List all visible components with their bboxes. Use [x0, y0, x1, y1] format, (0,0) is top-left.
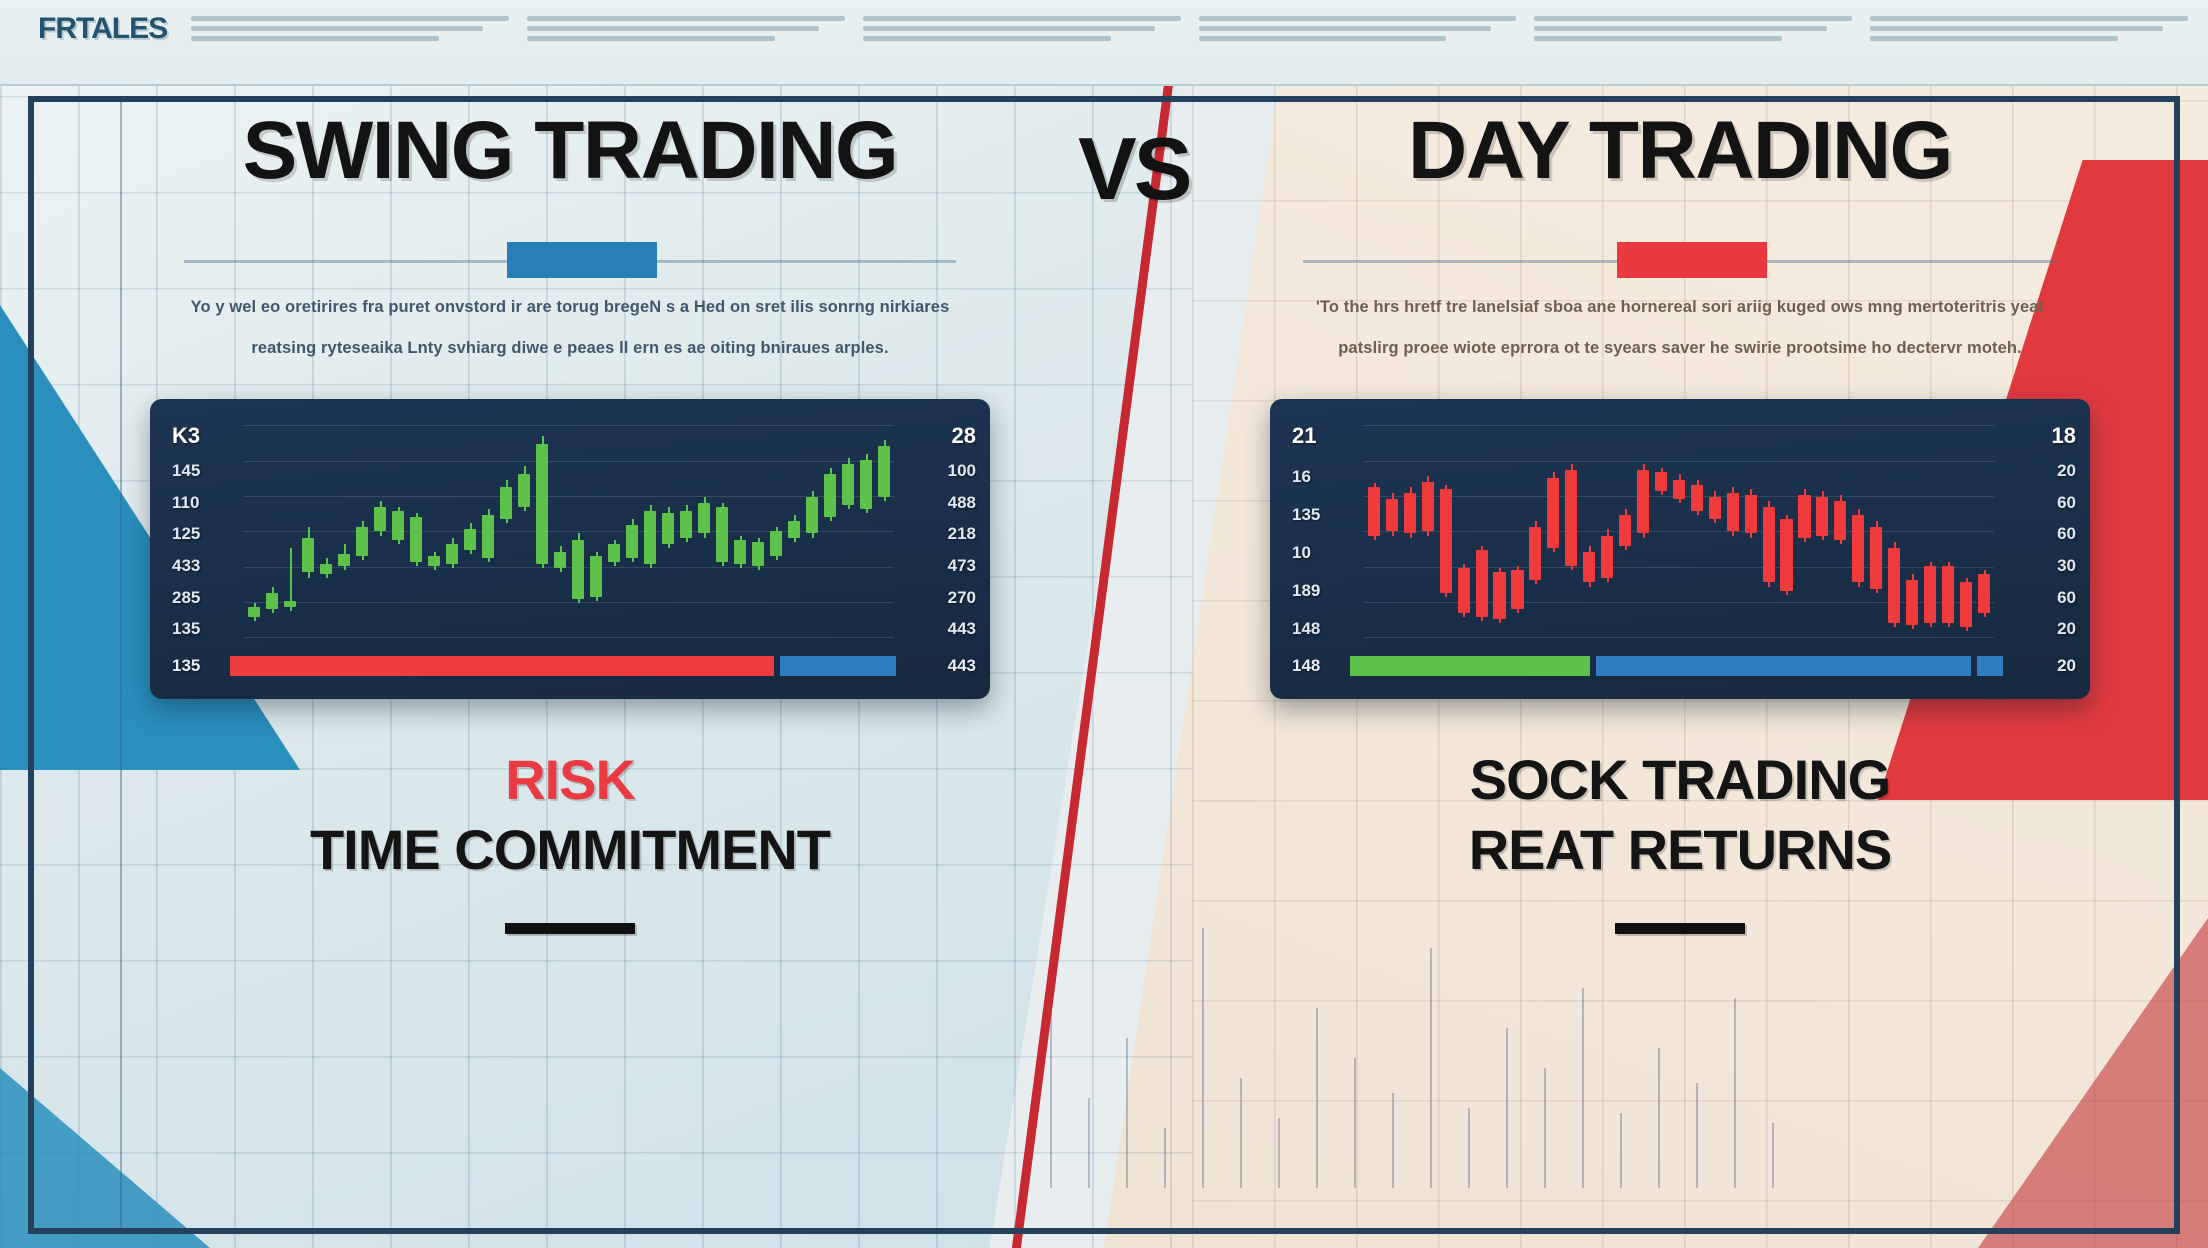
candlestick[interactable]	[1743, 429, 1759, 633]
candlestick[interactable]	[1581, 429, 1597, 633]
risk-label: RISK	[150, 745, 990, 815]
time-commitment-label: TIME COMMITMENT	[150, 815, 990, 885]
candlestick[interactable]	[588, 429, 604, 633]
candlestick[interactable]	[552, 429, 568, 633]
candlestick[interactable]	[1617, 429, 1633, 633]
candlestick[interactable]	[1671, 429, 1687, 633]
axis-tick-label: 21	[1292, 425, 1316, 447]
axis-tick-label: 20	[2057, 620, 2076, 637]
right-footer-dash	[1615, 923, 1745, 934]
candle-body	[572, 540, 584, 599]
candlestick[interactable]	[822, 429, 838, 633]
volume-bar-left-label: 135	[172, 656, 218, 676]
axis-tick-label: 135	[172, 620, 200, 637]
candlestick[interactable]	[1689, 429, 1705, 633]
masthead: FRTALES	[0, 0, 2208, 86]
axis-tick-label: 100	[948, 462, 976, 479]
tick-mark	[1050, 978, 1052, 1188]
left-footer-dash	[505, 923, 635, 934]
candle-body	[1763, 507, 1775, 582]
masthead-column	[1534, 16, 1852, 41]
candle-body	[1529, 527, 1541, 580]
candle-body	[1440, 489, 1452, 593]
candle-body	[464, 529, 476, 549]
candle-body	[1709, 497, 1721, 519]
candlestick[interactable]	[516, 429, 532, 633]
left-rule-group	[150, 240, 990, 280]
candle-body	[536, 444, 548, 564]
candlestick[interactable]	[1868, 429, 1884, 633]
volume-bar-segment	[230, 656, 774, 676]
right-chart-y-axis-left: 211613510189148	[1292, 425, 1364, 637]
candlestick[interactable]	[264, 429, 280, 633]
masthead-text-columns	[191, 8, 2188, 41]
candlestick[interactable]	[732, 429, 748, 633]
tick-mark	[1658, 1048, 1660, 1188]
candle-body	[1780, 519, 1792, 590]
candle-body	[1619, 515, 1631, 546]
left-chart-y-axis-right: 28100488218473270443	[904, 425, 976, 637]
candle-body	[770, 531, 782, 555]
axis-tick-label: K3	[172, 425, 200, 447]
candlestick[interactable]	[408, 429, 424, 633]
candlestick[interactable]	[462, 429, 478, 633]
candle-body	[1673, 480, 1685, 498]
candlestick[interactable]	[1420, 429, 1436, 633]
candlestick[interactable]	[1814, 429, 1830, 633]
candle-body	[752, 542, 764, 566]
gridline	[1364, 637, 1994, 638]
versus-label: VS	[1078, 118, 1189, 220]
candle-body	[284, 601, 296, 607]
candlestick[interactable]	[678, 429, 694, 633]
masthead-column	[863, 16, 1181, 41]
tick-mark	[1316, 1008, 1318, 1188]
left-chart-candles[interactable]	[246, 429, 892, 633]
candlestick[interactable]	[1527, 429, 1543, 633]
candle-body	[716, 507, 728, 562]
candle-body	[860, 460, 872, 509]
left-lede-line-2: reatsing ryteseaika Lnty svhiarg diwe e …	[167, 335, 973, 362]
candlestick[interactable]	[570, 429, 586, 633]
candlestick[interactable]	[1976, 429, 1992, 633]
axis-tick-label: 30	[2057, 557, 2076, 574]
left-chart-y-axis-left: K3145110125433285135	[172, 425, 244, 637]
right-accent-chip	[1617, 242, 1767, 278]
candlestick[interactable]	[426, 429, 442, 633]
volume-bar-segment	[1977, 656, 2004, 676]
candle-body	[428, 556, 440, 566]
axis-tick-label: 18	[2052, 425, 2076, 447]
candle-body	[1404, 493, 1416, 534]
masthead-column	[527, 16, 845, 41]
candle-body	[1511, 570, 1523, 609]
candlestick[interactable]	[1510, 429, 1526, 633]
candlestick[interactable]	[1635, 429, 1651, 633]
tick-mark	[1202, 928, 1204, 1188]
volume-bar-track[interactable]	[230, 656, 918, 676]
right-chart-candles[interactable]	[1366, 429, 1992, 633]
candlestick[interactable]	[1940, 429, 1956, 633]
volume-bar-segment	[780, 656, 897, 676]
day-trading-column: DAY TRADING 'To the hrs hretf tre lanels…	[1270, 110, 2090, 934]
axis-tick-label: 443	[948, 620, 976, 637]
volume-bar-right-label: 443	[930, 656, 976, 676]
right-title: DAY TRADING	[1408, 110, 1952, 192]
left-title: SWING TRADING	[243, 110, 898, 192]
tick-mark	[1506, 1028, 1508, 1188]
axis-tick-label: 135	[1292, 506, 1320, 523]
candlestick[interactable]	[444, 429, 460, 633]
candle-body	[734, 540, 746, 564]
candlestick[interactable]	[1725, 429, 1741, 633]
candle-body	[500, 487, 512, 520]
axis-tick-label: 488	[948, 494, 976, 511]
axis-tick-label: 270	[948, 589, 976, 606]
candlestick[interactable]	[336, 429, 352, 633]
candle-body	[1637, 470, 1649, 533]
gridline	[244, 425, 894, 426]
candle-body	[554, 552, 566, 568]
candle-body	[1493, 572, 1505, 619]
candlestick[interactable]	[1438, 429, 1454, 633]
candle-body	[338, 554, 350, 566]
candle-body	[608, 544, 620, 562]
candlestick[interactable]	[498, 429, 514, 633]
axis-tick-label: 10	[1292, 544, 1311, 561]
left-chart-volume-bar[interactable]: 135443	[172, 651, 976, 681]
right-lede-line-1: 'To the hrs hretf tre lanelsiaf sboa ane…	[1286, 294, 2073, 321]
brand-logo[interactable]: FRTALES	[38, 8, 167, 46]
axis-tick-label: 28	[952, 425, 976, 447]
candle-body	[482, 515, 494, 558]
candlestick[interactable]	[1922, 429, 1938, 633]
axis-tick-label: 433	[172, 557, 200, 574]
candle-body	[1691, 485, 1703, 512]
swing-trading-column: SWING TRADING Yo y wel eo oretirires fra…	[150, 110, 990, 934]
candle-body	[1476, 550, 1488, 617]
axis-tick-label: 218	[948, 525, 976, 542]
candlestick[interactable]	[660, 429, 676, 633]
infographic-poster: FRTALES VS SWING TRADING Yo y wel eo ore…	[0, 0, 2208, 1248]
candle-body	[248, 607, 260, 617]
right-chart-volume-bar[interactable]: 14820	[1292, 651, 2076, 681]
axis-tick-label: 110	[172, 494, 199, 511]
candlestick[interactable]	[372, 429, 388, 633]
tick-mark	[1430, 948, 1432, 1188]
left-lede-line-1: Yo y wel eo oretirires fra puret onvstor…	[167, 294, 973, 321]
candlestick[interactable]	[1707, 429, 1723, 633]
candle-body	[518, 474, 530, 507]
tick-mark	[1088, 1098, 1090, 1188]
tick-mark	[1468, 1108, 1470, 1188]
candle-body	[1368, 487, 1380, 536]
candle-body	[1422, 482, 1434, 531]
candlestick[interactable]	[804, 429, 820, 633]
candlestick[interactable]	[624, 429, 640, 633]
masthead-column	[1199, 16, 1517, 41]
candle-body	[1870, 527, 1882, 588]
candlestick[interactable]	[480, 429, 496, 633]
candle-body	[374, 507, 386, 531]
candle-body	[1924, 566, 1936, 623]
candlestick[interactable]	[840, 429, 856, 633]
candle-body	[1960, 582, 1972, 627]
candle-body	[626, 525, 638, 558]
masthead-column	[191, 16, 509, 41]
candle-body	[1547, 478, 1559, 547]
gridline	[1364, 425, 1994, 426]
candle-body	[1978, 574, 1990, 613]
candle-body	[1834, 501, 1846, 540]
candlestick[interactable]	[1545, 429, 1561, 633]
tick-mark	[1354, 1058, 1356, 1188]
left-footer-labels: RISK TIME COMMITMENT	[150, 745, 990, 934]
axis-tick-label: 473	[948, 557, 976, 574]
candle-body	[266, 593, 278, 609]
candle-body	[1655, 472, 1667, 490]
candle-body	[1906, 580, 1918, 625]
candle-body	[446, 544, 458, 564]
candle-body	[392, 511, 404, 540]
axis-tick-label: 16	[1292, 468, 1311, 485]
candlestick[interactable]	[1779, 429, 1795, 633]
candle-body	[590, 556, 602, 597]
tick-mark	[1620, 1113, 1622, 1188]
candle-body	[1888, 548, 1900, 623]
volume-bar-left-label: 148	[1292, 656, 1338, 676]
candle-body	[1601, 536, 1613, 579]
axis-tick-label: 20	[2057, 462, 2076, 479]
candlestick[interactable]	[696, 429, 712, 633]
candlestick[interactable]	[1366, 429, 1382, 633]
candlestick[interactable]	[750, 429, 766, 633]
candle-body	[1942, 566, 1954, 623]
axis-tick-label: 60	[2057, 589, 2076, 606]
tick-mark	[1164, 1128, 1166, 1188]
candle-body	[410, 517, 422, 562]
tick-mark	[1544, 1068, 1546, 1188]
candlestick[interactable]	[1958, 429, 1974, 633]
candle-body	[878, 446, 890, 497]
candle-body	[644, 511, 656, 564]
candlestick[interactable]	[1456, 429, 1472, 633]
tick-mark	[1734, 998, 1736, 1188]
axis-tick-label: 125	[172, 525, 200, 542]
candlestick[interactable]	[246, 429, 262, 633]
candlestick[interactable]	[1850, 429, 1866, 633]
candlestick[interactable]	[282, 429, 298, 633]
candle-body	[320, 564, 332, 574]
candlestick[interactable]	[858, 429, 874, 633]
candle-body	[1583, 552, 1595, 583]
candle-body	[662, 513, 674, 544]
right-chart-y-axis-right: 18206060306020	[2004, 425, 2076, 637]
axis-tick-label: 285	[172, 589, 200, 606]
candlestick[interactable]	[300, 429, 316, 633]
candle-body	[302, 538, 314, 573]
great-returns-label: REAT RETURNS	[1270, 815, 2090, 885]
candle-body	[1798, 495, 1810, 538]
right-rule-group	[1270, 240, 2090, 280]
candle-body	[806, 497, 818, 534]
candlestick[interactable]	[642, 429, 658, 633]
candle-body	[1816, 497, 1828, 536]
candlestick[interactable]	[354, 429, 370, 633]
candlestick[interactable]	[1886, 429, 1902, 633]
candle-body	[1745, 495, 1757, 534]
candlestick[interactable]	[1761, 429, 1777, 633]
candle-body	[842, 464, 854, 505]
candlestick[interactable]	[1599, 429, 1615, 633]
tick-mark	[1126, 1038, 1128, 1188]
tick-mark	[1696, 1083, 1698, 1188]
candlestick[interactable]	[1653, 429, 1669, 633]
candle-body	[1852, 515, 1864, 582]
volume-bar-track[interactable]	[1350, 656, 2018, 676]
candlestick[interactable]	[1797, 429, 1813, 633]
candle-body	[1386, 499, 1398, 532]
swing-trading-chart-panel[interactable]: K3145110125433285135 2810048821847327044…	[150, 399, 990, 699]
candle-body	[824, 474, 836, 517]
tick-mark	[1582, 988, 1584, 1188]
right-lede-line-2: patslirg proee wiote eprrora ot te syear…	[1286, 335, 2073, 362]
axis-tick-label: 189	[1292, 582, 1320, 599]
candlestick[interactable]	[390, 429, 406, 633]
axis-tick-label: 60	[2057, 525, 2076, 542]
candle-body	[356, 527, 368, 556]
volume-bar-right-label: 20	[2030, 656, 2076, 676]
left-accent-chip	[507, 242, 657, 278]
candle-body	[698, 503, 710, 534]
candlestick[interactable]	[1384, 429, 1400, 633]
day-trading-chart-panel[interactable]: 211613510189148 18206060306020 14820	[1270, 399, 2090, 699]
volume-bar-segment	[1350, 656, 1590, 676]
tick-mark	[1278, 1118, 1280, 1188]
axis-tick-label: 148	[1292, 620, 1320, 637]
candlestick[interactable]	[1474, 429, 1490, 633]
candlestick[interactable]	[534, 429, 550, 633]
candlestick[interactable]	[714, 429, 730, 633]
candlestick[interactable]	[1563, 429, 1579, 633]
candlestick[interactable]	[876, 429, 892, 633]
candle-body	[1727, 493, 1739, 532]
volume-bar-segment	[1596, 656, 1970, 676]
candlestick[interactable]	[318, 429, 334, 633]
candle-body	[1565, 470, 1577, 566]
candlestick[interactable]	[606, 429, 622, 633]
tick-mark	[1240, 1078, 1242, 1188]
candle-body	[1458, 568, 1470, 613]
candlestick[interactable]	[1904, 429, 1920, 633]
right-footer-labels: SOCK TRADING REAT RETURNS	[1270, 745, 2090, 934]
axis-tick-label: 60	[2057, 494, 2076, 511]
tick-mark	[1772, 1123, 1774, 1188]
candlestick[interactable]	[768, 429, 784, 633]
gridline	[244, 637, 894, 638]
stock-trading-label: SOCK TRADING	[1270, 745, 2090, 815]
candle-body	[680, 511, 692, 538]
masthead-column	[1870, 16, 2188, 41]
tick-mark	[1392, 1093, 1394, 1188]
candlestick[interactable]	[1492, 429, 1508, 633]
candlestick[interactable]	[786, 429, 802, 633]
candlestick[interactable]	[1832, 429, 1848, 633]
candle-body	[788, 521, 800, 537]
candlestick[interactable]	[1402, 429, 1418, 633]
axis-tick-label: 145	[172, 462, 200, 479]
